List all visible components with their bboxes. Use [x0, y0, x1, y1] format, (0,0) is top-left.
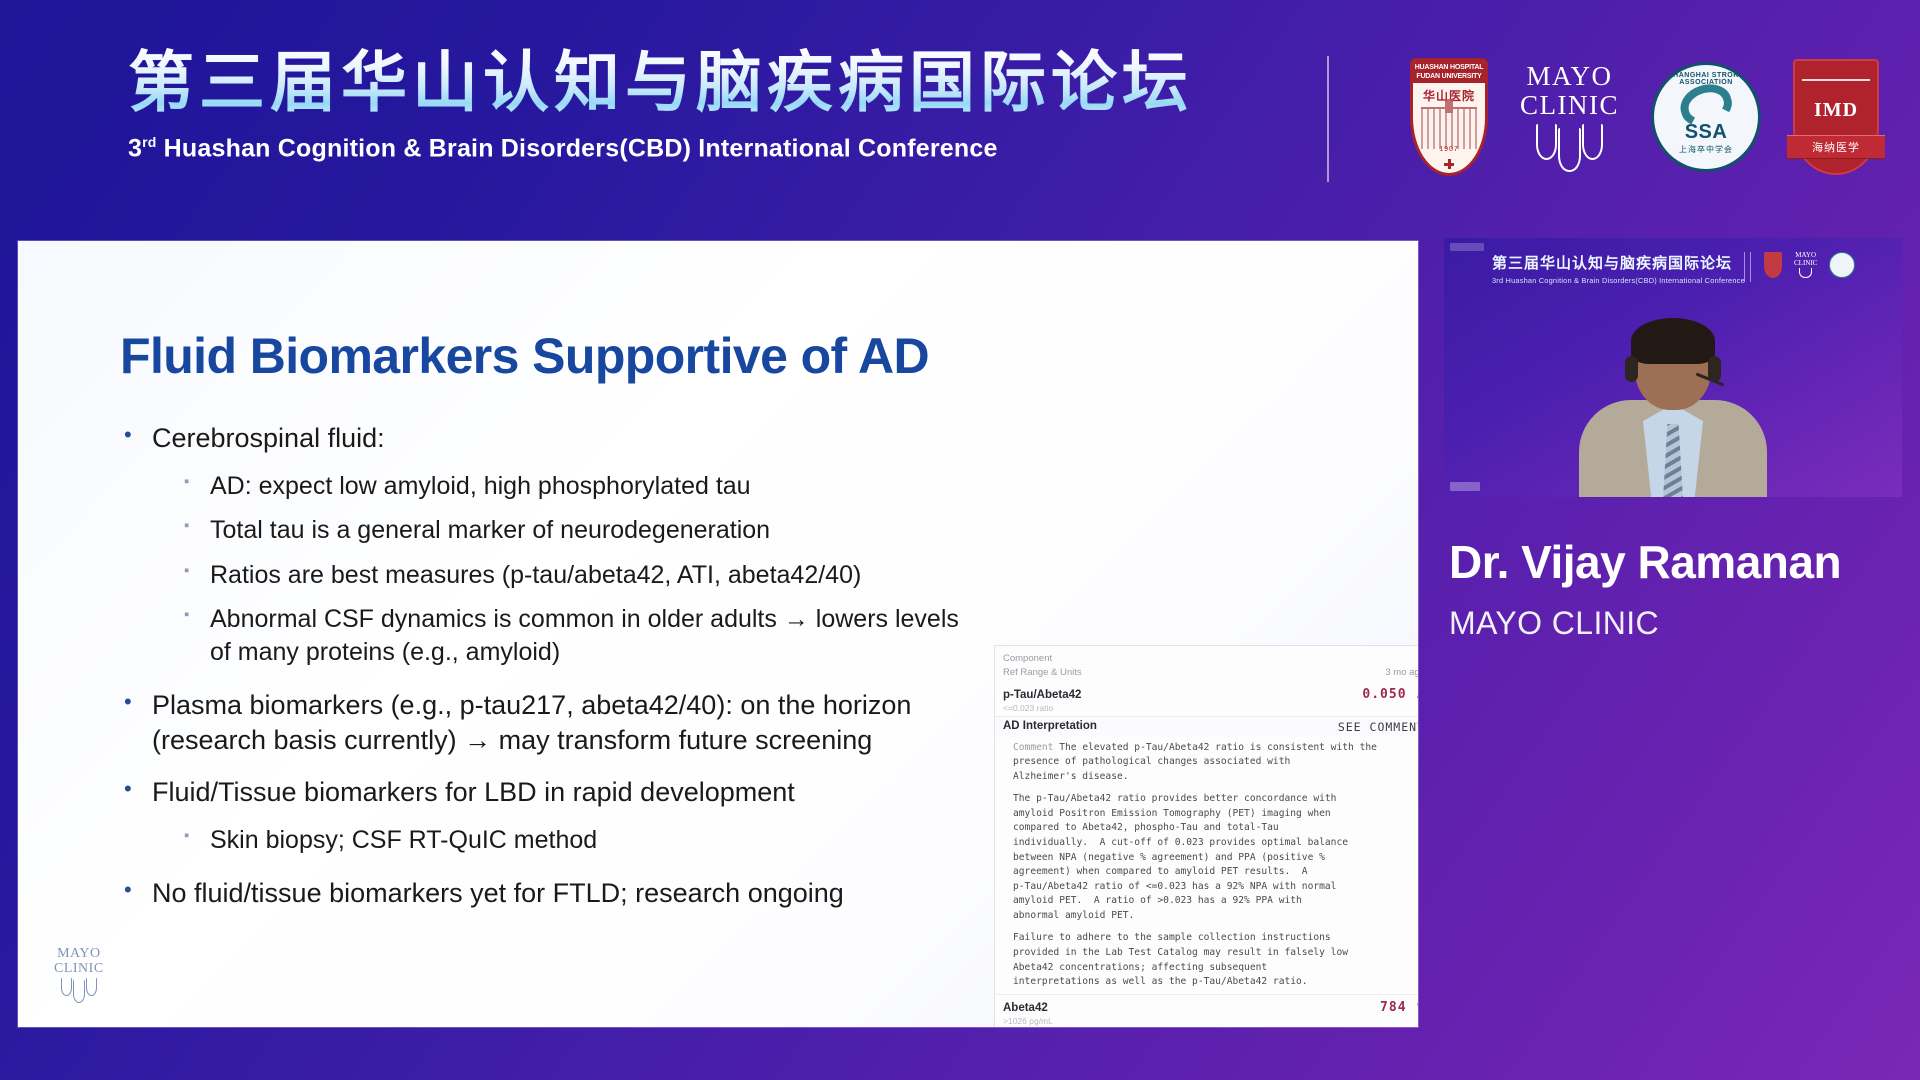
header-divider	[1327, 56, 1329, 182]
mayo-shields-icon	[1520, 124, 1619, 172]
lab-report-row-name: Abeta42	[1003, 1002, 1048, 1014]
header-logo-row: HUASHAN HOSPITAL FUDAN UNIVERSITY 华山医院 1…	[1410, 52, 1879, 182]
conference-header-banner: 第三届华山认知与脑疾病国际论坛 3rd Huashan Cognition & …	[0, 0, 1920, 222]
video-overlay-title-english: 3rd Huashan Cognition & Brain Disorders(…	[1492, 276, 1745, 285]
bullet-dot-icon: •	[122, 688, 152, 717]
conference-title-english-ordinal: rd	[142, 134, 156, 150]
mayo-shield-right-icon	[1582, 124, 1603, 160]
slide-footer-shield-left-icon	[61, 978, 72, 996]
video-mayo-logo-icon: MAYO CLINIC	[1794, 252, 1817, 278]
video-overlay-logo-row: MAYO CLINIC	[1764, 252, 1855, 278]
lab-report-interpretation-label: AD Interpretation	[1003, 720, 1097, 734]
slide-bullet-list: • Cerebrospinal fluid: ▪ AD: expect low …	[122, 421, 962, 925]
lab-report-primary-value: 0.050	[1362, 687, 1406, 702]
lab-report-column-headers: Component Ref Range & Units 3 mo ago	[995, 646, 1418, 682]
lab-report-screenshot: Component Ref Range & Units 3 mo ago p-T…	[994, 645, 1418, 1027]
slide-footer-shield-center-icon	[73, 980, 85, 1003]
mayo-clinic-logo: MAYO CLINIC	[1520, 62, 1619, 172]
huashan-logo-band-line2: FUDAN UNIVERSITY	[1413, 72, 1485, 81]
sub-bullet-item: ▪ AD: expect low amyloid, high phosphory…	[184, 470, 962, 503]
lab-report-timestamp: 3 mo ago	[1385, 666, 1418, 680]
bullet-text: No fluid/tissue biomarkers yet for FTLD;…	[152, 876, 962, 911]
bullet-text: Plasma biomarkers (e.g., p-tau217, abeta…	[152, 688, 962, 757]
slide-footer-mayo-line1: MAYO	[54, 947, 104, 961]
huashan-logo-band: HUASHAN HOSPITAL FUDAN UNIVERSITY	[1413, 61, 1485, 83]
huashan-logo-building-icon	[1421, 107, 1477, 149]
video-mayo-shield-icon	[1799, 268, 1812, 278]
slide-footer-mayo-line2: CLINIC	[54, 962, 104, 976]
huashan-logo-year: 1907	[1413, 146, 1485, 153]
mayo-logo-line2: CLINIC	[1520, 91, 1619, 119]
headset-earpiece-left-icon	[1625, 356, 1638, 382]
mayo-logo-line1: MAYO	[1520, 62, 1619, 90]
imd-logo: IMD 海纳医学	[1793, 59, 1879, 175]
lab-report-row-value-group: 784 ∨	[1380, 996, 1418, 1015]
lab-report-comment-block: Comment The elevated p-Tau/Abeta42 ratio…	[995, 737, 1418, 789]
presentation-slide[interactable]: Fluid Biomarkers Supportive of AD • Cere…	[18, 241, 1418, 1027]
sub-bullet-item: ▪ Total tau is a general marker of neuro…	[184, 514, 962, 547]
lab-report-primary-row: p-Tau/Abeta42 0.050 ∧	[995, 682, 1418, 703]
lab-report-comment-paragraph-2: The p-Tau/Abeta42 ratio provides better …	[1013, 793, 1348, 921]
bullet-dot-icon: •	[122, 775, 152, 804]
header-title-block: 第三届华山认知与脑疾病国际论坛 3rd Huashan Cognition & …	[128, 46, 1298, 163]
sub-bullet-item: ▪ Abnormal CSF dynamics is common in old…	[184, 603, 962, 668]
ssa-chinese-name: 上海卒中学会	[1679, 144, 1733, 155]
sub-bullet-dot-icon: ▪	[184, 603, 210, 626]
lab-report-header-component: Component	[1003, 652, 1418, 666]
conference-title-english-rest: Huashan Cognition & Brain Disorders(CBD)…	[157, 134, 998, 162]
video-top-left-badge	[1450, 243, 1484, 251]
lab-report-row-refrange: >1026 pg/mL	[995, 1016, 1418, 1027]
sub-bullet-text: Total tau is a general marker of neurode…	[210, 514, 962, 547]
video-ssa-logo-icon	[1829, 252, 1855, 278]
lab-report-comment-paragraph-2-wrap: The p-Tau/Abeta42 ratio provides better …	[995, 788, 1418, 927]
lab-report-comment-paragraph-1: The elevated p-Tau/Abeta42 ratio is cons…	[1013, 742, 1377, 782]
bullet-text: Cerebrospinal fluid:	[152, 421, 962, 456]
medical-cross-icon	[1444, 159, 1454, 169]
video-huashan-logo-icon	[1764, 252, 1782, 278]
bullet-dot-icon: •	[122, 876, 152, 905]
sub-bullet-item: ▪ Skin biopsy; CSF RT-QuIC method	[184, 824, 962, 857]
lab-report-primary-value-group: 0.050 ∧	[1362, 683, 1418, 702]
lab-report-comment-paragraph-3-wrap: Failure to adhere to the sample collecti…	[995, 927, 1418, 993]
conference-title-chinese: 第三届华山认知与脑疾病国际论坛	[128, 46, 1298, 120]
imd-logo-topbar	[1802, 69, 1870, 81]
lab-report-primary-refrange: <=0.023 ratio	[995, 703, 1418, 716]
lab-report-row: Abeta42 784 ∨	[995, 994, 1418, 1016]
speaker-video-feed[interactable]: 第三届华山认知与脑疾病国际论坛 3rd Huashan Cognition & …	[1444, 238, 1902, 497]
slide-footer-mayo-shields-icon	[54, 978, 104, 1003]
sub-bullet-dot-icon: ▪	[184, 514, 210, 537]
speaker-organization: MAYO CLINIC	[1449, 605, 1659, 642]
slide-title: Fluid Biomarkers Supportive of AD	[120, 327, 929, 385]
bullet-item: • Cerebrospinal fluid:	[122, 421, 962, 456]
lab-report-header-refrange: Ref Range & Units	[1003, 666, 1082, 680]
sub-bullet-text: AD: expect low amyloid, high phosphoryla…	[210, 470, 962, 503]
video-overlay-divider	[1744, 252, 1745, 282]
video-bottom-left-badge	[1450, 482, 1480, 491]
conference-title-english: 3rd Huashan Cognition & Brain Disorders(…	[128, 134, 1298, 163]
bullet-text: Fluid/Tissue biomarkers for LBD in rapid…	[152, 775, 962, 810]
shanghai-stroke-association-logo: SHANGHAI STROKE ASSOCIATION SSA 上海卒中学会	[1651, 62, 1761, 172]
huashan-logo-band-line1: HUASHAN HOSPITAL	[1413, 63, 1485, 72]
sub-bullet-item: ▪ Ratios are best measures (p-tau/abeta4…	[184, 559, 962, 592]
lab-report-interpretation-row: AD Interpretation SEE COMMENT	[995, 716, 1418, 737]
lab-report-primary-name: p-Tau/Abeta42	[1003, 689, 1081, 701]
slide-footer-shield-right-icon	[86, 978, 97, 996]
slide-footer-mayo-logo: MAYO CLINIC	[54, 947, 104, 1003]
bullet-dot-icon: •	[122, 421, 152, 450]
sub-bullet-text: Abnormal CSF dynamics is common in older…	[210, 603, 962, 668]
conference-title-english-prefix: 3	[128, 134, 142, 162]
bullet-item: • Plasma biomarkers (e.g., p-tau217, abe…	[122, 688, 962, 757]
video-overlay-divider-2	[1750, 252, 1751, 282]
lab-report-comment-tag: Comment	[1013, 742, 1053, 753]
bullet-item: • Fluid/Tissue biomarkers for LBD in rap…	[122, 775, 962, 810]
video-overlay-title: 第三届华山认知与脑疾病国际论坛 3rd Huashan Cognition & …	[1492, 252, 1745, 285]
lab-report-primary-flag-icon: ∧	[1416, 687, 1418, 702]
lab-report-row-flag-icon: ∨	[1416, 1000, 1418, 1015]
sub-bullet-dot-icon: ▪	[184, 824, 210, 847]
speaker-hair	[1631, 318, 1715, 364]
sub-bullet-text: Ratios are best measures (p-tau/abeta42,…	[210, 559, 962, 592]
sub-bullet-text: Skin biopsy; CSF RT-QuIC method	[210, 824, 962, 857]
lab-report-interpretation-value: SEE COMMENT	[1338, 720, 1418, 734]
mayo-shield-left-icon	[1536, 124, 1557, 160]
imd-logo-word: IMD	[1795, 99, 1877, 122]
sub-bullet-dot-icon: ▪	[184, 470, 210, 493]
video-mayo-line2: CLINIC	[1794, 260, 1817, 267]
lab-report-comment-paragraph-3: Failure to adhere to the sample collecti…	[1013, 932, 1348, 987]
sub-bullet-dot-icon: ▪	[184, 559, 210, 582]
bullet-item: • No fluid/tissue biomarkers yet for FTL…	[122, 876, 962, 911]
mayo-shield-center-icon	[1558, 128, 1581, 172]
video-overlay-title-chinese: 第三届华山认知与脑疾病国际论坛	[1492, 252, 1745, 273]
imd-logo-ribbon: 海纳医学	[1787, 135, 1885, 159]
huashan-hospital-logo: HUASHAN HOSPITAL FUDAN UNIVERSITY 华山医院 1…	[1410, 58, 1488, 176]
speaker-name: Dr. Vijay Ramanan	[1449, 535, 1841, 589]
lab-report-row-value: 784	[1380, 1000, 1406, 1015]
